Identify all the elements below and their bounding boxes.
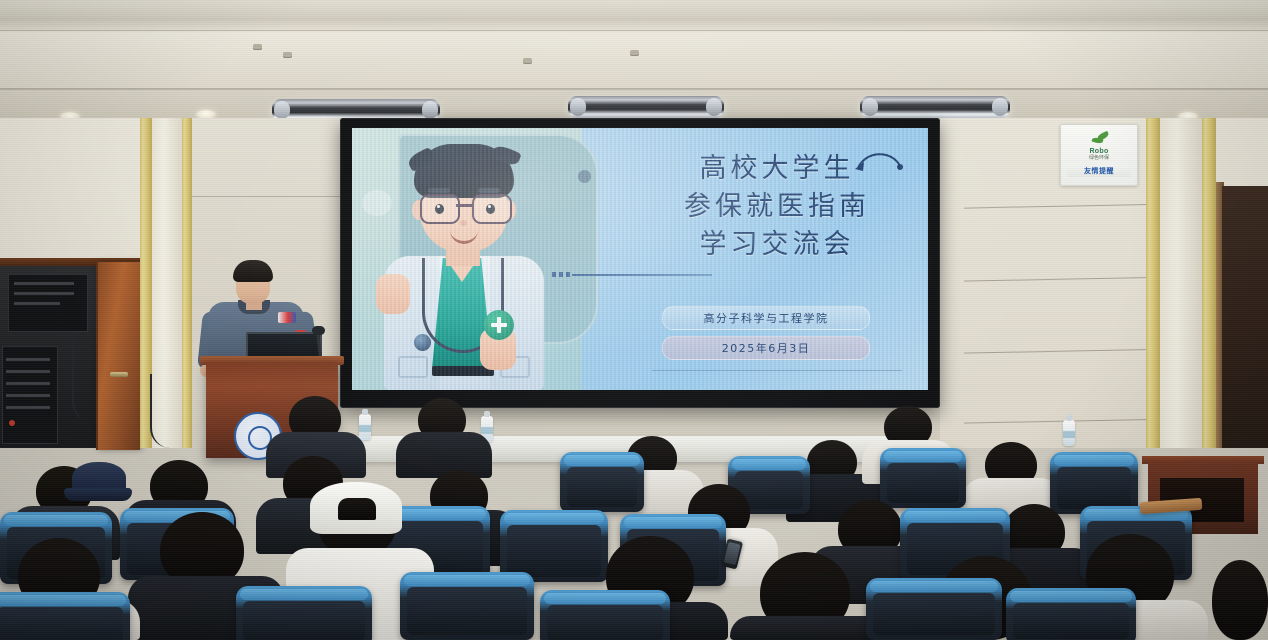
ceiling-light-fixture (568, 96, 724, 118)
gold-pilaster (1146, 118, 1160, 448)
auditorium-seat[interactable] (1006, 588, 1136, 640)
water-bottle (1063, 420, 1075, 446)
auditorium-seat[interactable] (880, 448, 966, 508)
auditorium-seat[interactable] (400, 572, 534, 640)
status-led-icon (9, 420, 15, 426)
cap-brim (64, 488, 132, 501)
auditorium-seat[interactable] (560, 452, 644, 512)
rack-slot (6, 370, 50, 373)
door-handle[interactable] (110, 372, 128, 377)
ceiling-light-fixture (860, 96, 1010, 118)
sign-brand: Robo (1089, 148, 1108, 155)
audience-shoulders (396, 432, 492, 478)
ceiling-sensor-icon (253, 44, 262, 50)
wall-notice-sign: Robo 绿色环保 友情提醒 (1060, 124, 1138, 186)
speaker-chest-logo (278, 312, 296, 323)
sign-notice-bar: 友情提醒 (1067, 164, 1131, 177)
screen-scanlines (352, 128, 928, 390)
rack-slot (6, 394, 50, 397)
presentation-screen[interactable]: 高校大学生 参保就医指南 学习交流会 高分子科学与工程学院 2025年6月3日 (352, 128, 928, 390)
gold-pilaster (1202, 118, 1216, 448)
ceiling-seam (0, 30, 1268, 31)
far-right-doorway[interactable] (1222, 186, 1268, 448)
wall-pilaster (1160, 118, 1202, 448)
rack-slot (6, 358, 50, 361)
cable (72, 336, 94, 422)
speaker-hair (233, 260, 273, 282)
rack-slot (14, 292, 74, 295)
water-bottle (359, 414, 371, 440)
wooden-door[interactable] (96, 262, 140, 450)
rack-slot (6, 382, 50, 385)
microphone-icon (312, 326, 325, 335)
ceiling-sensor-icon (630, 50, 639, 56)
rack-slot (14, 282, 74, 285)
sign-brand-sub: 绿色环保 (1089, 156, 1109, 161)
audience-head (1212, 560, 1268, 640)
auditorium-seat[interactable] (540, 590, 670, 640)
cap-back-opening (338, 498, 376, 520)
floor-cable (150, 374, 182, 448)
auditorium-seat[interactable] (866, 578, 1002, 640)
auditorium-seat[interactable] (236, 586, 372, 640)
audience-shoulders (730, 616, 886, 640)
sign-notice-text: 友情提醒 (1084, 166, 1114, 176)
ceiling-soffit (0, 32, 1268, 90)
lecture-hall-photo: Robo 绿色环保 友情提醒 (0, 0, 1268, 640)
leaf-icon (1088, 133, 1110, 147)
rack-slot (14, 302, 60, 305)
ceiling-top-band (0, 0, 1268, 18)
ceiling-sensor-icon (283, 52, 292, 58)
ceiling-camera-icon (523, 58, 532, 64)
auditorium-seat[interactable] (0, 592, 130, 640)
rack-slot (6, 406, 50, 409)
gold-pilaster (182, 118, 192, 448)
auditorium-seat[interactable] (1050, 452, 1138, 514)
